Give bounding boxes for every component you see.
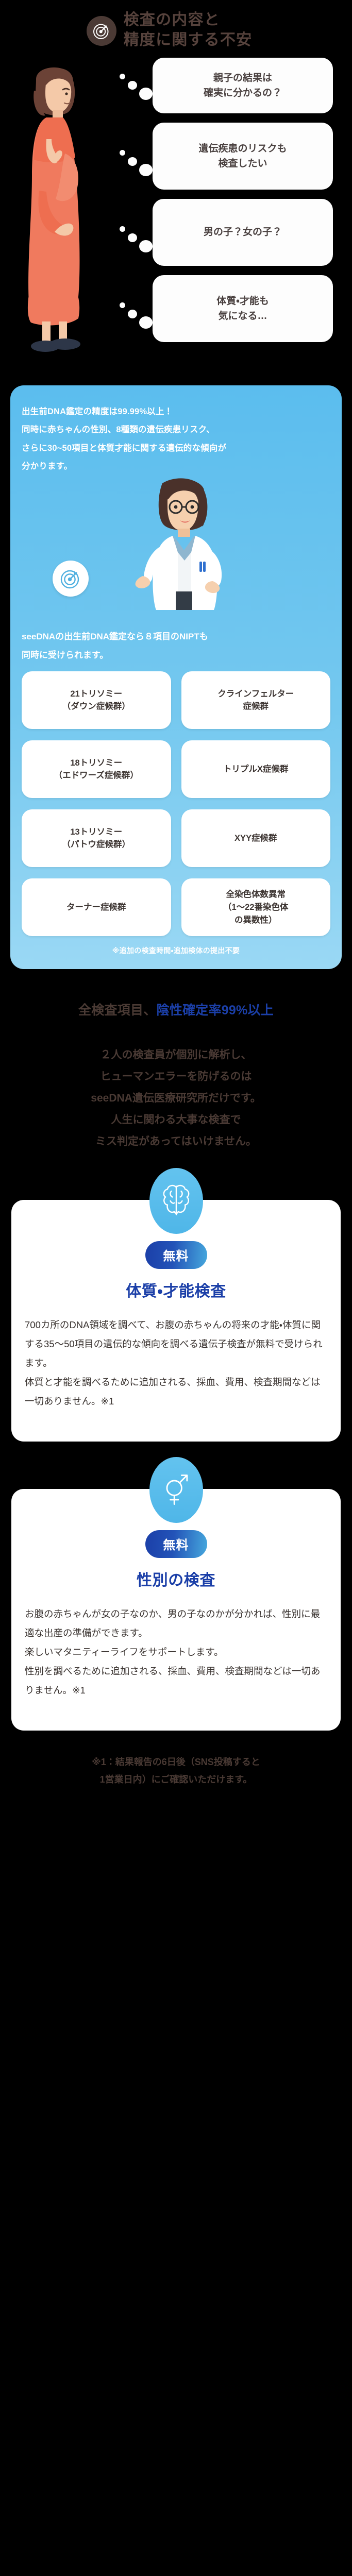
condition-cell: 全染色体数異常 （1～22番染色体 の異数性） xyxy=(181,878,331,936)
feature-title: 体質・才能検査 xyxy=(25,1278,327,1301)
info-panel: 出生前DNA鑑定の精度は99.99%以上！ 同時に赤ちゃんの性別、8種類の遺伝疾… xyxy=(10,385,342,969)
bubble-dot-small xyxy=(120,226,125,232)
condition-grid: 21トリソミー （ダウン症候群） クラインフェルター 症候群 18トリソミー （… xyxy=(22,671,330,936)
feature-block-constitution: 無料 体質・才能検査 700カ所のDNA領域を調べて、お腹の赤ちゃんの将来の才能… xyxy=(11,1200,341,1442)
page-header: 検査の内容と 精度に関する不安 xyxy=(0,0,352,58)
bubble-dot-small xyxy=(120,74,125,79)
bubble-text: 親子の結果は 確実に分かるの？ xyxy=(153,58,333,113)
statement-blue-part: 陰性確定率99%以上 xyxy=(156,1003,274,1018)
bubble-text: 男の子？女の子？ xyxy=(153,199,333,266)
footnote: ※1：結果報告の6日後（SNS投稿すると 1営業日内）にご確認いただけます。 xyxy=(13,1753,339,1788)
bubble-dot-medium xyxy=(128,81,137,90)
doctor-illustration-area xyxy=(22,478,330,628)
thought-bubble-item: 男の子？女の子？ xyxy=(153,199,333,266)
bubble-dot-small xyxy=(120,150,125,156)
feature-body: 700カ所のDNA領域を調べて、お腹の赤ちゃんの将来の才能・体質に関する35～5… xyxy=(25,1315,327,1411)
bubble-dot-large xyxy=(139,316,153,329)
condition-cell: トリプルX症候群 xyxy=(181,740,331,798)
bubble-text: 遺伝疾患のリスクも 検査したい xyxy=(153,123,333,190)
feature-title: 性別の検査 xyxy=(25,1567,327,1590)
condition-cell: 13トリソミー （パトウ症候群） xyxy=(22,809,171,867)
doctor-illustration xyxy=(122,475,251,630)
condition-cell: XYY症候群 xyxy=(181,809,331,867)
bubble-dot-small xyxy=(120,302,125,308)
bubble-dot-large xyxy=(139,88,153,100)
bubble-dot-medium xyxy=(128,310,137,318)
feature-body: お腹の赤ちゃんが女の子なのか、男の子なのかが分かれば、性別に最適な出産の準備がで… xyxy=(25,1604,327,1700)
feature-block-gender: 無料 性別の検査 お腹の赤ちゃんが女の子なのか、男の子なのかが分かれば、性別に最… xyxy=(11,1489,341,1731)
gender-icon xyxy=(149,1457,203,1523)
brain-icon xyxy=(149,1168,203,1234)
condition-cell: 18トリソミー （エドワーズ症候群） xyxy=(22,740,171,798)
feature-card: 無料 体質・才能検査 700カ所のDNA領域を調べて、お腹の赤ちゃんの将来の才能… xyxy=(11,1200,341,1442)
bubble-text: 体質・才能も 気になる… xyxy=(153,275,333,342)
page-title: 検査の内容と 精度に関する不安 xyxy=(124,10,266,50)
accuracy-paragraph: ２人の検査員が個別に解析し、 ヒューマンエラーを防げるのは seeDNA遺伝医療… xyxy=(0,1044,352,1153)
panel-lead-text: 出生前DNA鑑定の精度は99.99%以上！ 同時に赤ちゃんの性別、8種類の遺伝疾… xyxy=(22,403,330,476)
status-badge: 無料 xyxy=(145,1241,207,1269)
bubble-dot-large xyxy=(139,164,153,176)
thought-bubble-item: 親子の結果は 確実に分かるの？ xyxy=(153,58,333,113)
bubble-dot-medium xyxy=(128,233,137,242)
status-badge: 無料 xyxy=(145,1530,207,1558)
panel-sub-text: seeDNAの出生前DNA鑑定なら８項目のNIPTも 同時に受けられます。 xyxy=(22,628,330,664)
panel-note: ※追加の検査時間・追加検体の提出不要 xyxy=(22,945,330,956)
statement-dark-part: 全検査項目、 xyxy=(78,1003,157,1018)
hero-section: 親子の結果は 確実に分かるの？ 遺伝疾患のリスクも 検査したい 男の子？女の子？… xyxy=(0,58,352,367)
bubble-dot-large xyxy=(139,240,153,252)
thought-bubble-item: 遺伝疾患のリスクも 検査したい xyxy=(153,123,333,190)
thought-bubble-list: 親子の結果は 確実に分かるの？ 遺伝疾患のリスクも 検査したい 男の子？女の子？… xyxy=(153,58,333,351)
bubble-dot-medium xyxy=(128,157,137,166)
pregnant-woman-illustration xyxy=(15,62,108,361)
condition-cell: 21トリソミー （ダウン症候群） xyxy=(22,671,171,729)
condition-cell: クラインフェルター 症候群 xyxy=(181,671,331,729)
feature-card: 無料 性別の検査 お腹の赤ちゃんが女の子なのか、男の子なのかが分かれば、性別に最… xyxy=(11,1489,341,1731)
accuracy-statement: 全検査項目、陰性確定率99%以上 xyxy=(0,1001,352,1021)
target-icon xyxy=(87,16,116,46)
condition-cell: ターナー症候群 xyxy=(22,878,171,936)
thought-bubble-item: 体質・才能も 気になる… xyxy=(153,275,333,342)
target-badge-icon xyxy=(53,561,89,597)
